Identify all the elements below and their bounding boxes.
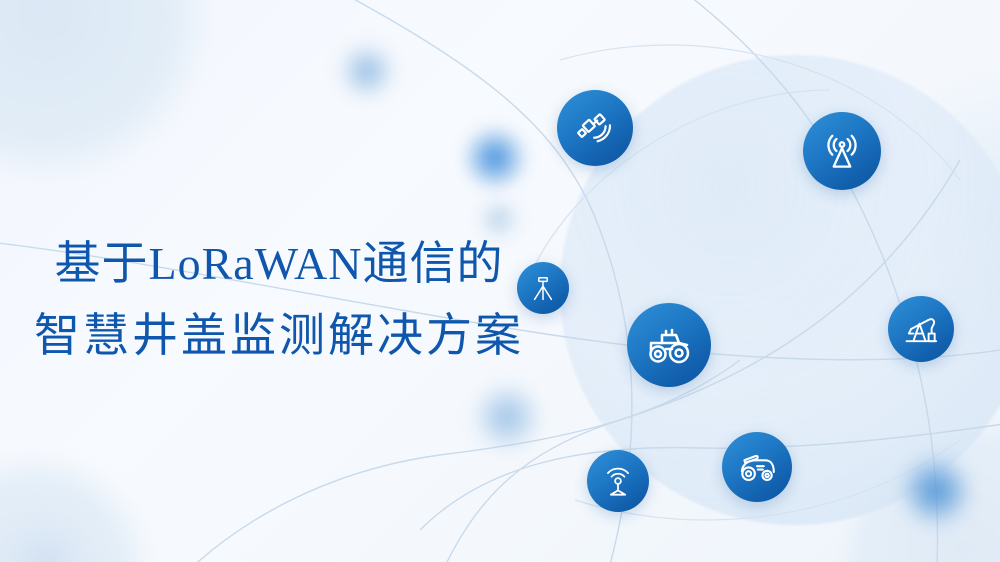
node-harvester[interactable] — [722, 432, 792, 502]
glow-dot-upper-left — [338, 42, 396, 100]
title-block: 基于LoRaWAN通信的 智慧井盖监测解决方案 — [0, 228, 558, 372]
node-tractor[interactable] — [627, 303, 711, 387]
harvester-icon — [736, 446, 778, 488]
glow-dot-center-left — [462, 125, 528, 191]
title-line-2: 智慧井盖监测解决方案 — [0, 300, 558, 372]
title-line-1: 基于LoRaWAN通信的 — [0, 228, 558, 300]
node-wireless-sensor[interactable] — [587, 450, 649, 512]
radio-tower-icon — [819, 128, 865, 174]
glow-dot-lower-center — [472, 382, 542, 452]
glow-dot-bottom-right — [900, 455, 972, 527]
node-radio-tower[interactable] — [803, 112, 881, 190]
satellite-icon — [573, 106, 617, 150]
node-satellite[interactable] — [557, 90, 633, 166]
slide-canvas: 基于LoRaWAN通信的 智慧井盖监测解决方案 — [0, 0, 1000, 562]
wireless-sensor-icon — [600, 463, 636, 499]
oil-pumpjack-icon — [902, 310, 940, 348]
node-oil-pumpjack[interactable] — [888, 296, 954, 362]
tractor-icon — [644, 320, 694, 370]
